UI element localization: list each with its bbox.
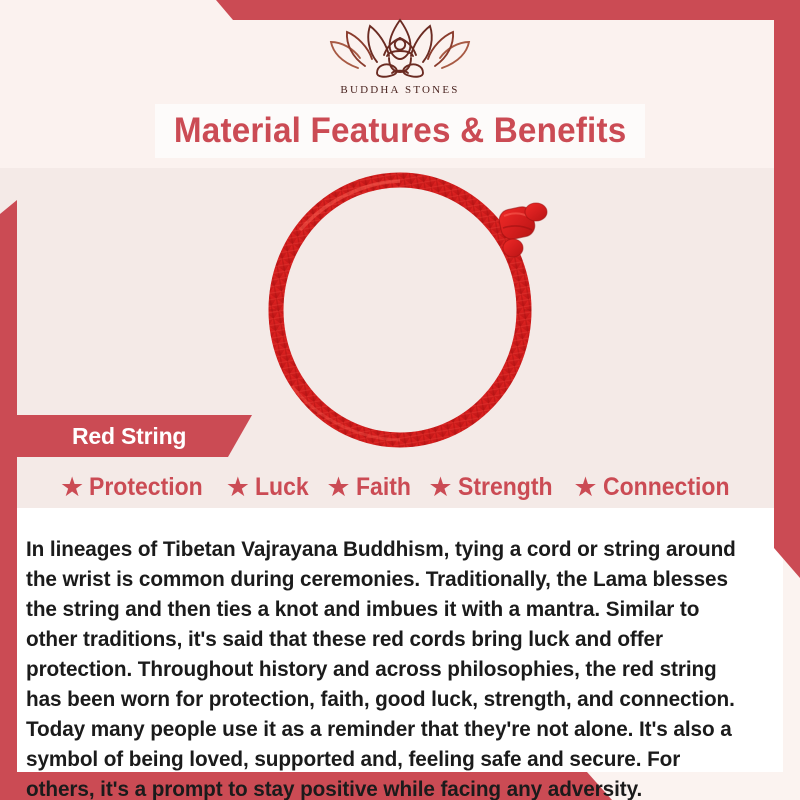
description-text: In lineages of Tibetan Vajrayana Buddhis… — [26, 534, 752, 800]
feature-item-luck: ★ Luck — [226, 473, 314, 502]
brand-name: BUDDHA STONES — [0, 84, 800, 96]
star-icon: ★ — [226, 474, 250, 501]
feature-item-protection: ★ Protection — [60, 473, 213, 502]
feature-item-faith: ★ Faith — [326, 473, 415, 502]
feature-label: Faith — [356, 473, 411, 502]
lotus-meditation-figure-icon — [325, 14, 475, 82]
feature-label: Luck — [255, 473, 309, 502]
feature-label: Connection — [603, 473, 730, 502]
star-icon: ★ — [573, 474, 597, 501]
feature-label: Protection — [89, 473, 203, 502]
feature-item-strength: ★ Strength — [428, 473, 560, 502]
feature-item-connection: ★ Connection — [573, 473, 740, 502]
page-title: Material Features & Benefits — [174, 111, 626, 151]
material-label-banner: Red String — [0, 415, 252, 457]
star-icon: ★ — [428, 474, 452, 501]
infographic-poster: BUDDHA STONES Material Features & Benefi… — [0, 0, 800, 800]
feature-list: ★ Protection ★ Luck ★ Faith ★ Strength ★… — [0, 466, 800, 508]
title-banner: Material Features & Benefits — [155, 104, 645, 158]
brand-logo: BUDDHA STONES — [0, 14, 800, 96]
material-label: Red String — [72, 423, 186, 450]
star-icon: ★ — [60, 474, 84, 501]
star-icon: ★ — [326, 474, 350, 501]
feature-label: Strength — [458, 473, 553, 502]
